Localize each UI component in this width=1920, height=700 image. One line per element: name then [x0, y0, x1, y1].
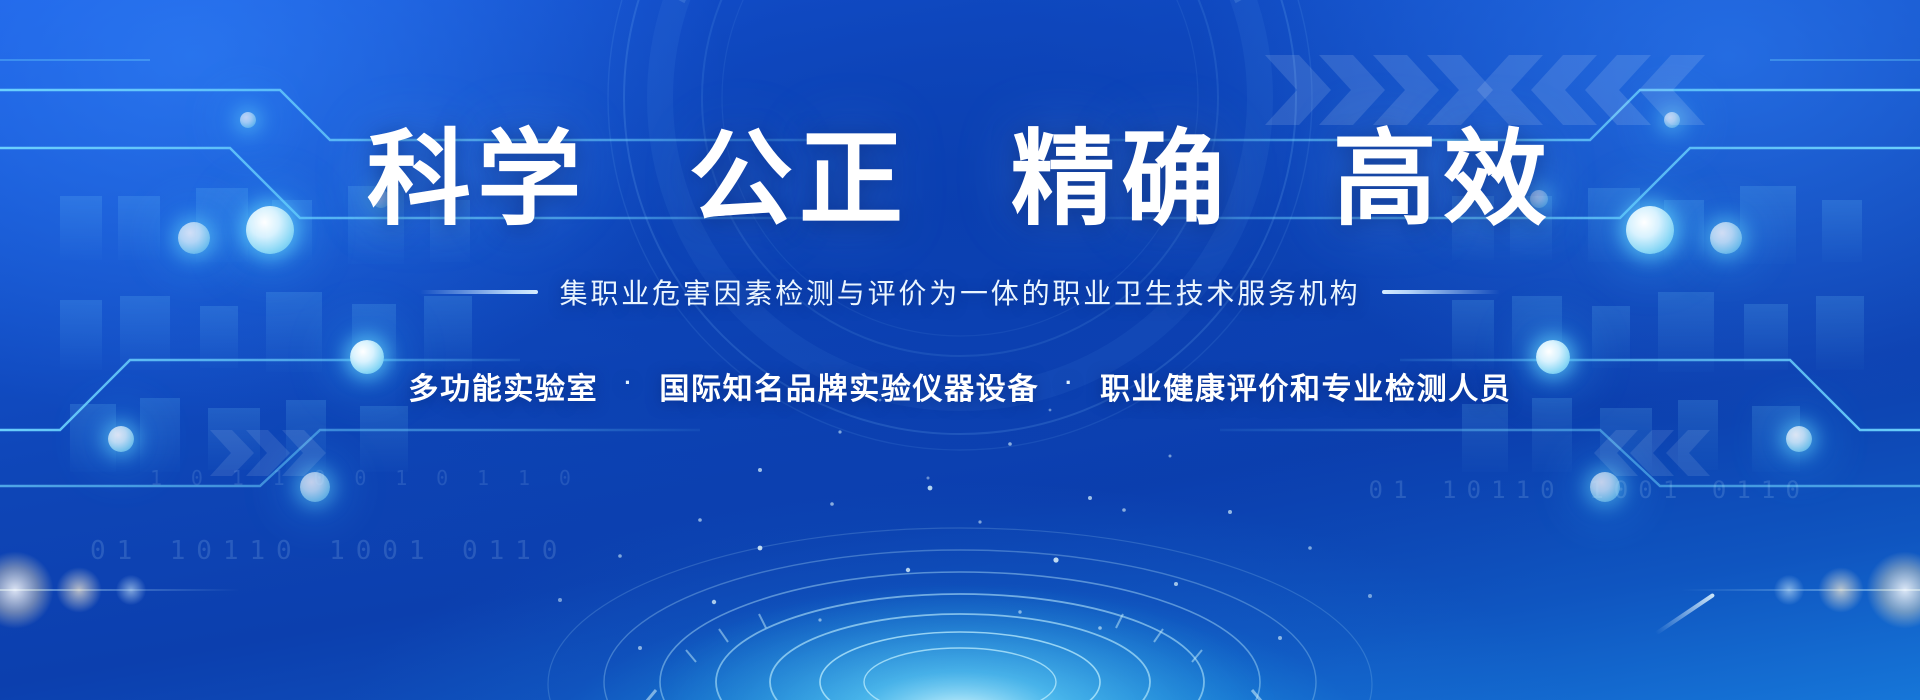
- tagline-item-3: 职业健康评价和专业检测人员: [1100, 364, 1511, 408]
- tagline-item-1: 多功能实验室: [408, 364, 598, 408]
- headline-word-3: 精确: [1011, 122, 1231, 238]
- tagline-separator: ·: [624, 370, 633, 396]
- page-title: 科学 公正 精确 高效: [367, 128, 1553, 232]
- headline-word-1: 科学: [367, 122, 587, 238]
- subtitle-rule-left: [420, 290, 538, 294]
- tagline-row: 多功能实验室 · 国际知名品牌实验仪器设备 · 职业健康评价和专业检测人员: [408, 364, 1511, 408]
- subtitle-row: 集职业危害因素检测与评价为一体的职业卫生技术服务机构: [420, 272, 1501, 312]
- headline-word-2: 公正: [689, 122, 909, 238]
- headline-word-4: 高效: [1333, 122, 1553, 238]
- tagline-item-2: 国际知名品牌实验仪器设备: [659, 364, 1039, 408]
- subtitle-rule-right: [1382, 290, 1500, 294]
- tagline-separator: ·: [1065, 370, 1074, 396]
- banner-content: 科学 公正 精确 高效 集职业危害因素检测与评价为一体的职业卫生技术服务机构 多…: [0, 0, 1920, 700]
- hero-banner: 01 10110 1001 0110 1 0 1 1 0 0 1 0 1 1 0…: [0, 0, 1920, 700]
- subtitle-text: 集职业危害因素检测与评价为一体的职业卫生技术服务机构: [560, 272, 1361, 312]
